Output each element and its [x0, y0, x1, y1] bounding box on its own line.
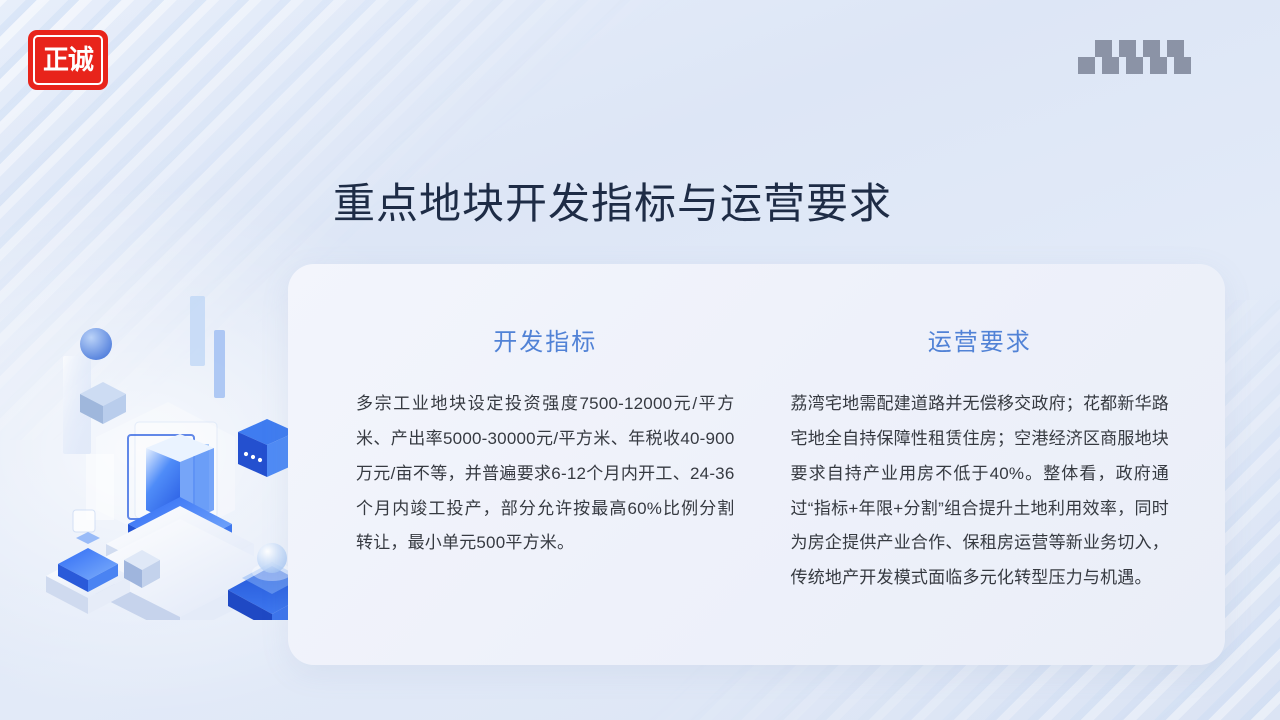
checker-square [1119, 40, 1136, 57]
logo-inner-border: 正诚 [33, 35, 103, 85]
checker-square [1095, 40, 1112, 57]
checker-pattern-icon [1078, 40, 1192, 74]
checker-square [1126, 57, 1143, 74]
content-card: 开发指标 多宗工业地块设定投资强度7500-12000元/平方米、产出率5000… [288, 264, 1225, 665]
column-operation-requirements: 运营要求 荔湾宅地需配建道路并无偿移交政府；花都新华路宅地全自持保障性租赁住房；… [791, 322, 1170, 625]
column-heading-development-indicators: 开发指标 [356, 322, 735, 357]
checker-square [1167, 40, 1184, 57]
checker-square [1078, 57, 1095, 74]
column-body-development-indicators: 多宗工业地块设定投资强度7500-12000元/平方米、产出率5000-3000… [356, 387, 735, 561]
checker-square [1143, 40, 1160, 57]
checker-square [1174, 57, 1191, 74]
zhengcheng-logo: 正诚 [28, 30, 108, 90]
checker-square [1102, 57, 1119, 74]
logo-text: 正诚 [43, 47, 93, 74]
column-body-operation-requirements: 荔湾宅地需配建道路并无偿移交政府；花都新华路宅地全自持保障性租赁住房；空港经济区… [791, 387, 1170, 596]
column-development-indicators: 开发指标 多宗工业地块设定投资强度7500-12000元/平方米、产出率5000… [356, 322, 735, 625]
checker-square [1150, 57, 1167, 74]
slide-canvas: 正诚 重点地块开发指标与运营要求 [0, 0, 1280, 720]
column-heading-operation-requirements: 运营要求 [791, 322, 1170, 357]
page-title: 重点地块开发指标与运营要求 [333, 178, 892, 231]
